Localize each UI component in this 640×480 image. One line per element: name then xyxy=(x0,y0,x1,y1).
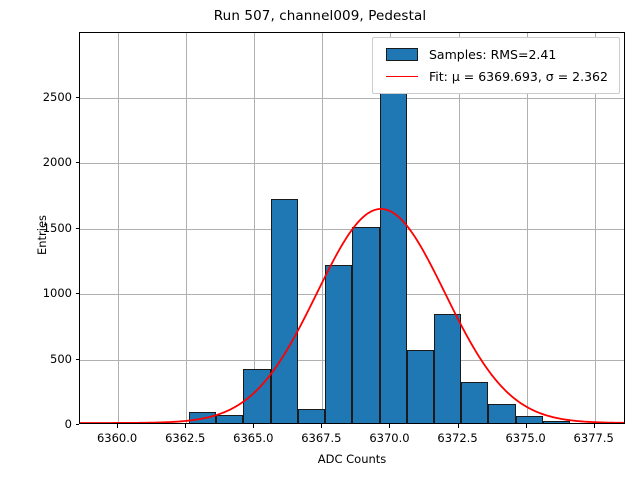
y-tick-label: 2500 xyxy=(7,90,72,104)
x-tick-mark xyxy=(117,424,118,428)
line-swatch-icon xyxy=(386,76,418,77)
x-tick-label: 6365.0 xyxy=(233,431,273,445)
x-tick-mark xyxy=(594,424,595,428)
bar-swatch-icon xyxy=(386,48,418,61)
y-tick-mark xyxy=(76,293,80,294)
legend-swatch-fit xyxy=(381,76,423,77)
figure-canvas: Run 507, channel009, Pedestal 6360.06362… xyxy=(0,0,640,480)
x-tick-mark xyxy=(321,424,322,428)
y-tick-label: 0 xyxy=(7,417,72,431)
y-tick-label: 500 xyxy=(7,352,72,366)
y-tick-mark xyxy=(76,424,80,425)
x-tick-mark xyxy=(458,424,459,428)
x-axis-label: ADC Counts xyxy=(79,452,625,466)
x-tick-mark xyxy=(526,424,527,428)
legend-entry-samples: Samples: RMS=2.41 xyxy=(381,43,613,65)
y-tick-label: 2000 xyxy=(7,155,72,169)
chart-legend: Samples: RMS=2.41 Fit: μ = 6369.693, σ =… xyxy=(372,37,620,94)
y-tick-mark xyxy=(76,228,80,229)
legend-label-samples: Samples: RMS=2.41 xyxy=(423,47,556,62)
legend-label-fit: Fit: μ = 6369.693, σ = 2.362 xyxy=(423,69,608,84)
x-tick-label: 6360.0 xyxy=(97,431,137,445)
y-axis-label: Entries xyxy=(35,175,49,295)
fit-curve-path xyxy=(80,209,624,423)
y-tick-mark xyxy=(76,97,80,98)
x-tick-label: 6367.5 xyxy=(301,431,341,445)
chart-title: Run 507, channel009, Pedestal xyxy=(0,8,640,24)
legend-entry-fit: Fit: μ = 6369.693, σ = 2.362 xyxy=(381,65,613,87)
x-tick-mark xyxy=(185,424,186,428)
y-tick-mark xyxy=(76,359,80,360)
x-tick-label: 6377.5 xyxy=(574,431,614,445)
x-tick-label: 6375.0 xyxy=(505,431,545,445)
y-tick-mark xyxy=(76,162,80,163)
x-tick-label: 6370.0 xyxy=(369,431,409,445)
x-tick-mark xyxy=(389,424,390,428)
x-tick-mark xyxy=(253,424,254,428)
legend-swatch-samples xyxy=(381,48,423,61)
x-tick-label: 6372.5 xyxy=(437,431,477,445)
x-tick-label: 6362.5 xyxy=(165,431,205,445)
